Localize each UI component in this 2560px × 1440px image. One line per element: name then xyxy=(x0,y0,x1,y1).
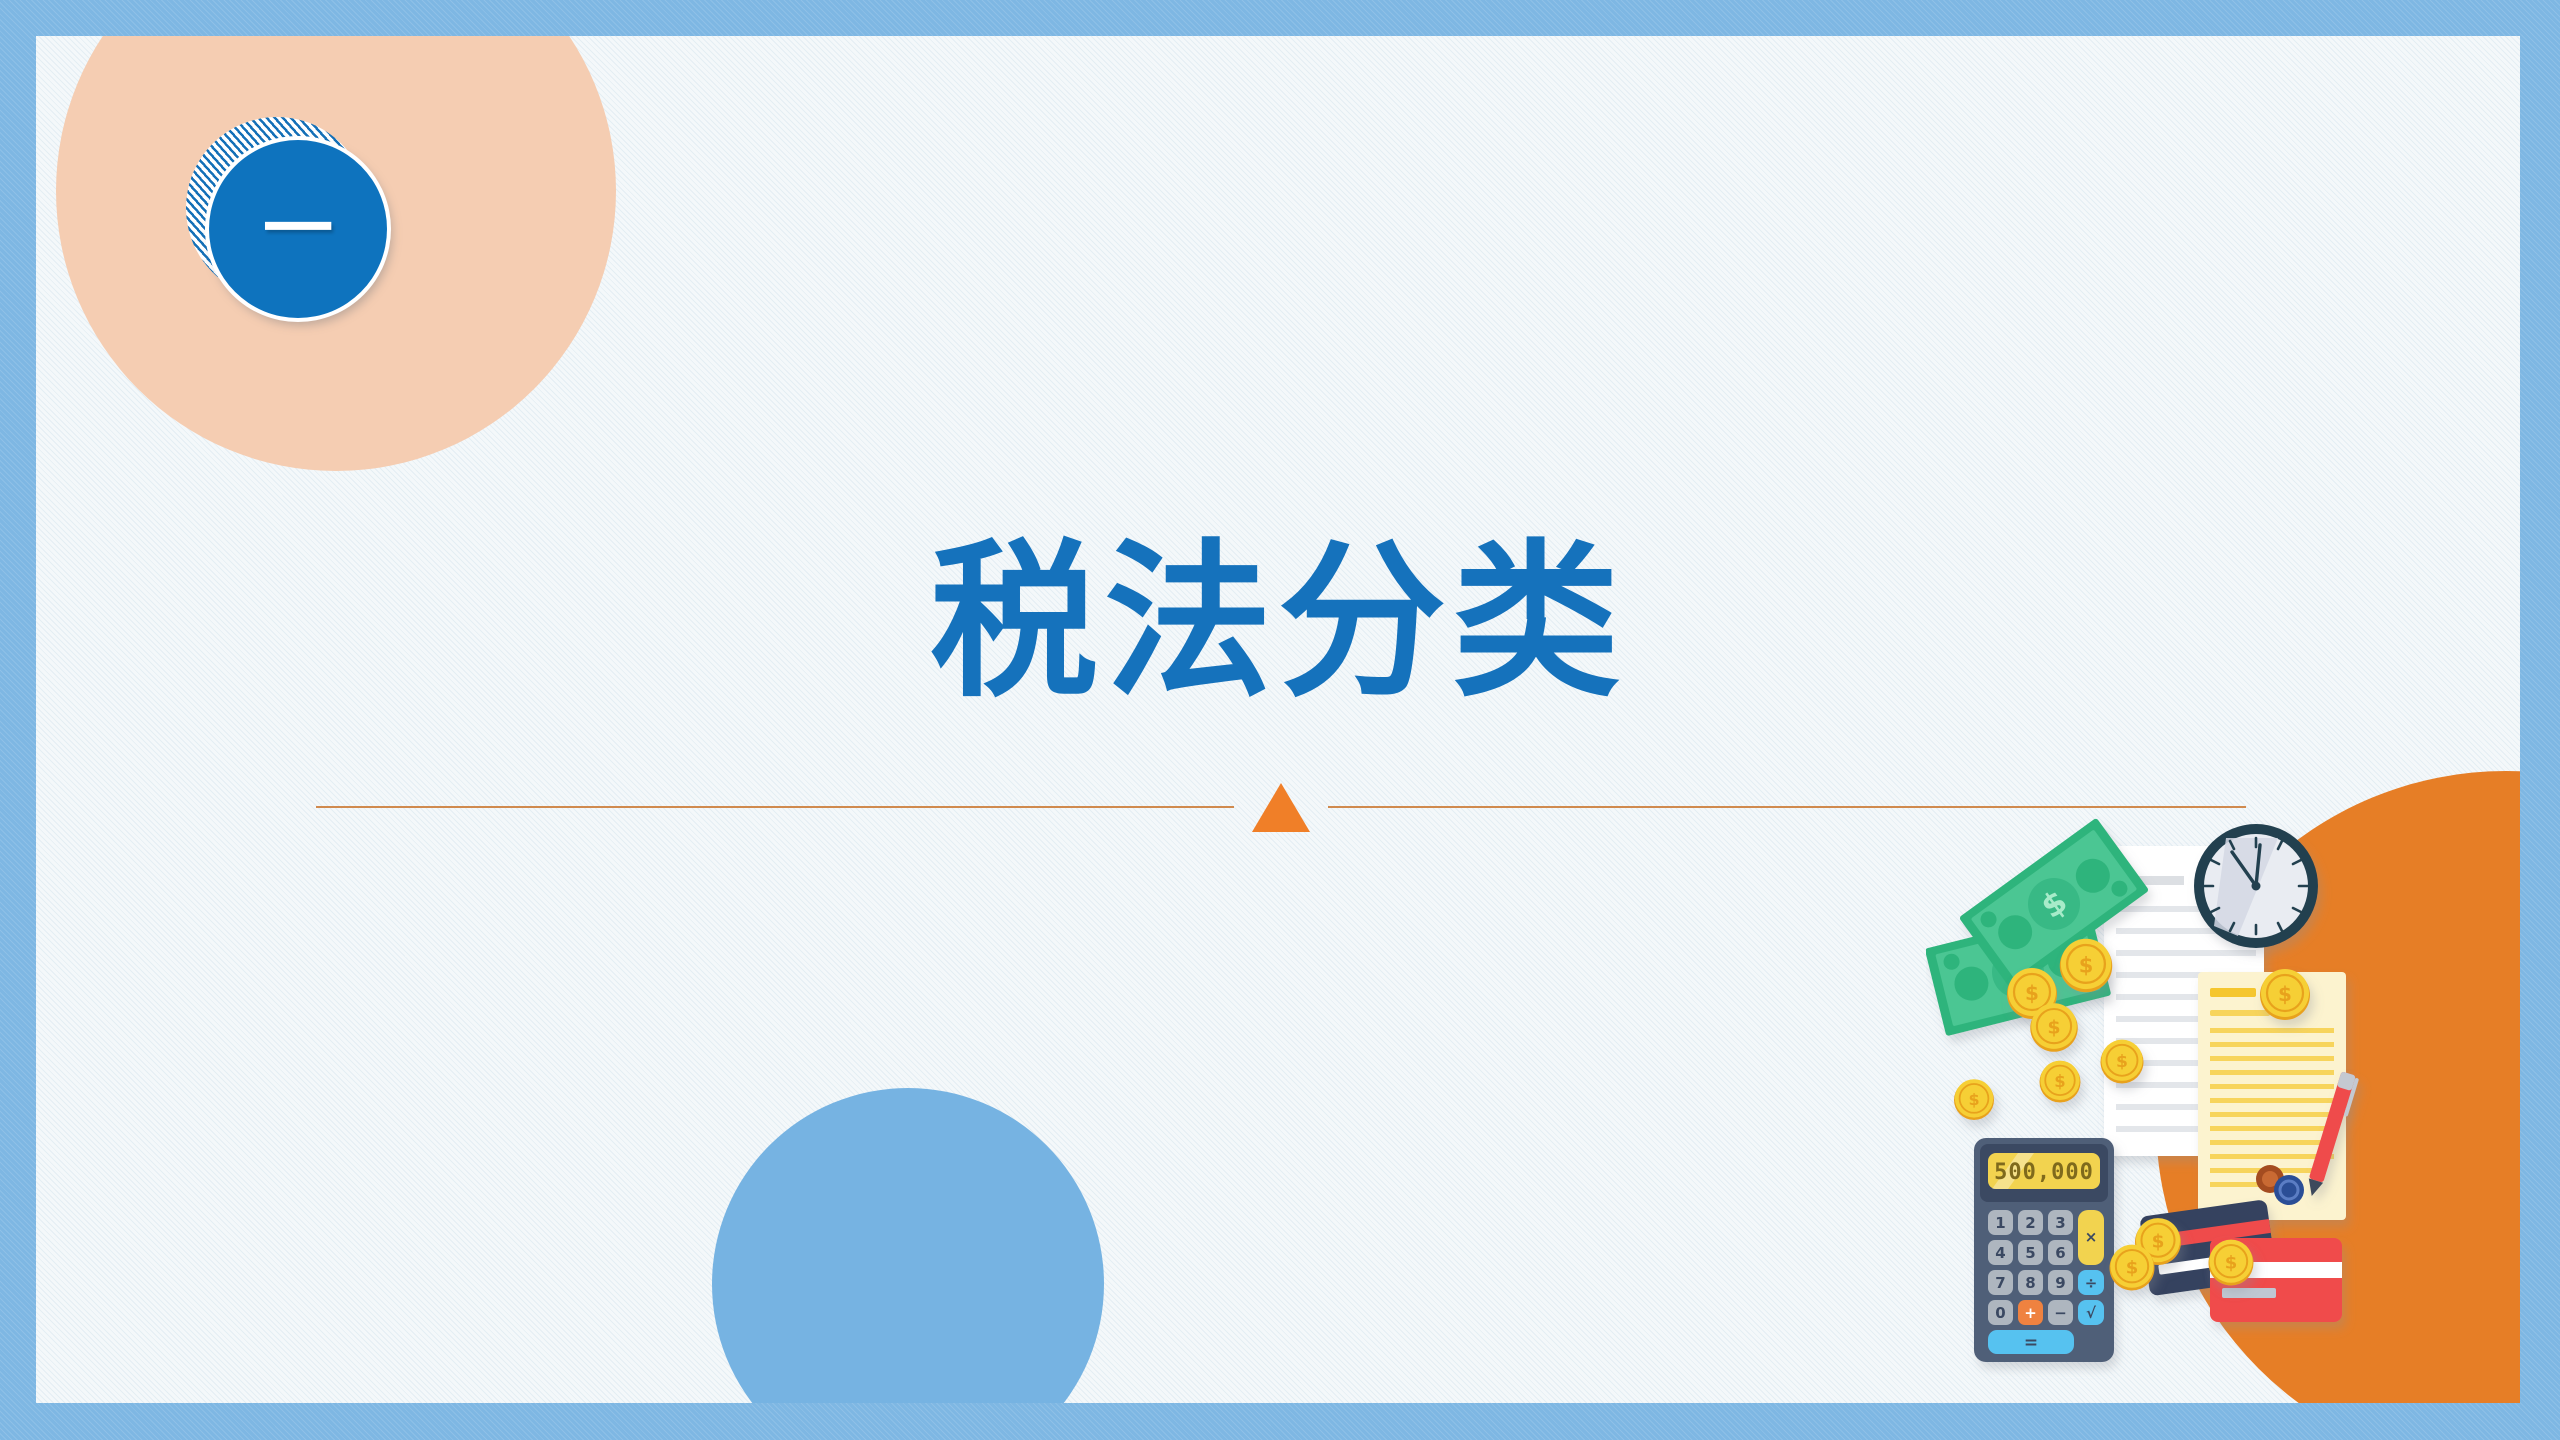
up-triangle-icon xyxy=(1252,783,1310,832)
tax-finance-illustration: $ $ xyxy=(1926,776,2466,1396)
svg-text:7: 7 xyxy=(1995,1274,2005,1292)
blue-circle-decoration xyxy=(712,1088,1104,1403)
svg-text:0: 0 xyxy=(1995,1304,2005,1322)
svg-text:500,000: 500,000 xyxy=(1994,1160,2094,1185)
svg-text:=: = xyxy=(2024,1333,2038,1353)
wall-clock-icon xyxy=(2194,824,2318,948)
calculator-icon: 500,000 1 2 3 4 5 6 7 8 9 0 + − xyxy=(1974,1138,2114,1362)
slide-frame: 一 税法分类 xyxy=(0,0,2560,1440)
divider-rule-left xyxy=(316,806,1234,808)
svg-text:6: 6 xyxy=(2055,1244,2065,1262)
svg-text:8: 8 xyxy=(2025,1274,2035,1292)
badge-number-label: 一 xyxy=(263,194,333,264)
svg-text:2: 2 xyxy=(2025,1214,2035,1232)
svg-text:×: × xyxy=(2085,1228,2098,1246)
svg-text:3: 3 xyxy=(2055,1214,2065,1232)
svg-text:4: 4 xyxy=(1995,1244,2005,1262)
section-number-badge: 一 xyxy=(186,117,396,327)
slide-content-panel: 一 税法分类 xyxy=(36,36,2520,1403)
svg-text:+: + xyxy=(2024,1304,2037,1322)
svg-text:5: 5 xyxy=(2025,1244,2035,1262)
badge-circle: 一 xyxy=(209,140,387,318)
svg-text:√: √ xyxy=(2086,1304,2097,1322)
svg-text:−: − xyxy=(2054,1304,2067,1322)
svg-text:÷: ÷ xyxy=(2085,1274,2098,1292)
svg-text:9: 9 xyxy=(2055,1274,2065,1292)
svg-text:1: 1 xyxy=(1995,1214,2005,1232)
page-title: 税法分类 xyxy=(36,528,2520,716)
